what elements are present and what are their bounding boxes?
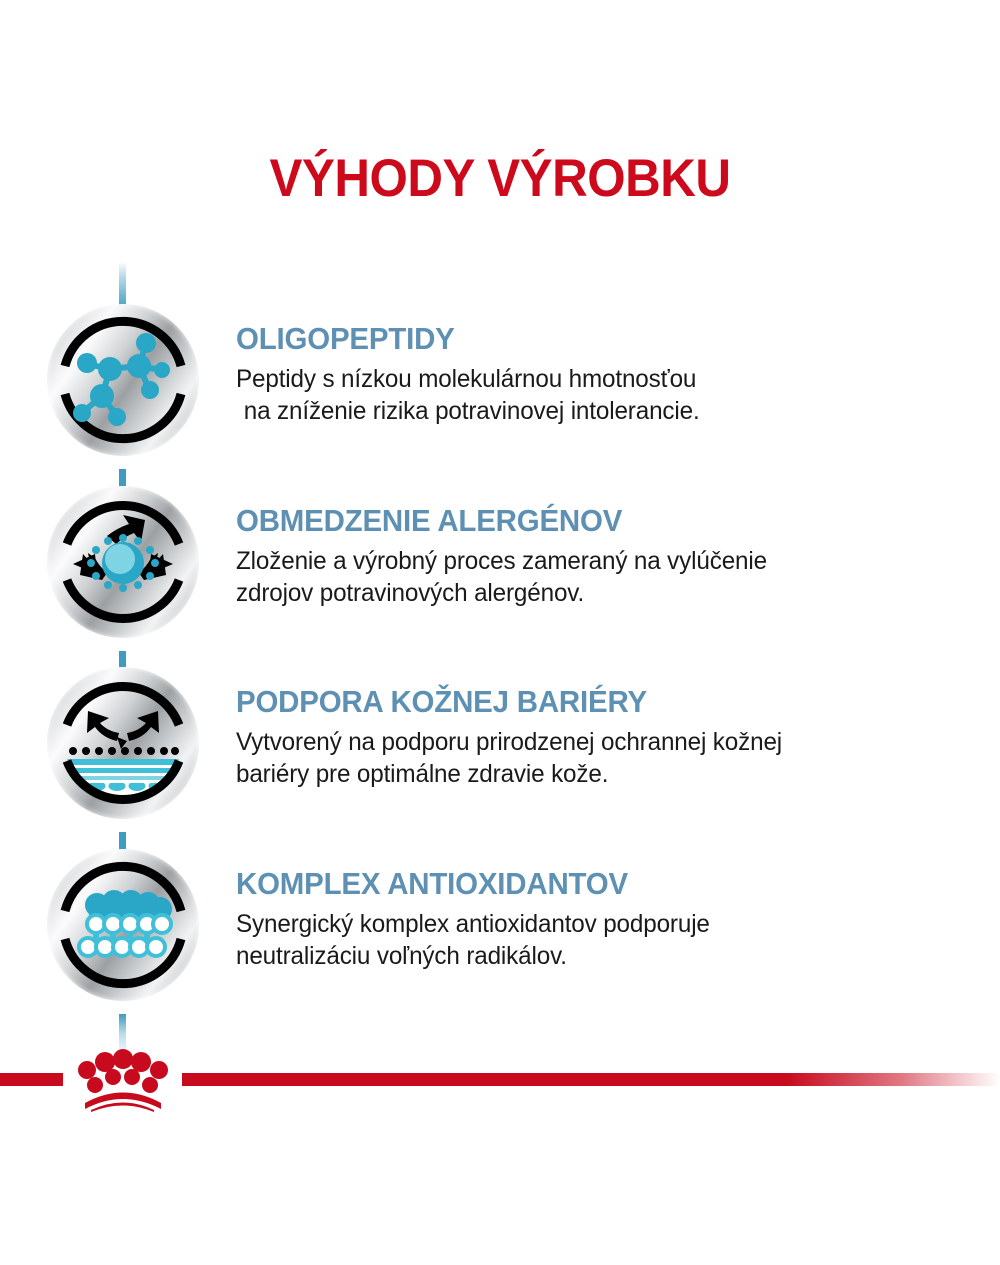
benefit-text-block: OLIGOPEPTIDY Peptidy s nízkou molekulárn… xyxy=(236,322,956,427)
benefit-text-block: OBMEDZENIE ALERGÉNOV Zloženie a výrobný … xyxy=(236,504,956,609)
footer-rule-left xyxy=(0,1073,63,1086)
benefit-text-block: PODPORA KOŽNEJ BARIÉRY Vytvorený na podp… xyxy=(236,685,956,790)
allergen-limitation-icon-graphic xyxy=(47,486,199,638)
benefit-description-line1: Synergický komplex antioxidantov podporu… xyxy=(236,910,710,938)
skin-barrier-icon xyxy=(47,667,199,819)
benefit-item-oligopeptidy: OLIGOPEPTIDY Peptidy s nízkou molekulárn… xyxy=(0,304,1000,464)
benefit-item-komplex-antioxidantov: KOMPLEX ANTIOXIDANTOV Synergický komplex… xyxy=(0,849,1000,1009)
benefit-description: Peptidy s nízkou molekulárnou hmotnosťou… xyxy=(236,363,934,427)
benefit-description-line1: Peptidy s nízkou molekulárnou hmotnosťou xyxy=(236,365,696,393)
allergen-limitation-icon xyxy=(47,486,199,638)
benefit-heading: PODPORA KOŽNEJ BARIÉRY xyxy=(236,685,920,719)
benefit-description-line2: na zníženie rizika potravinovej intolera… xyxy=(236,395,934,427)
benefit-description-line2: zdrojov potravinových alergénov. xyxy=(236,577,934,609)
antioxidant-complex-icon-graphic xyxy=(47,849,199,1001)
benefit-description-line2: neutralizáciu voľných radikálov. xyxy=(236,940,934,972)
benefit-description: Vytvorený na podporu prirodzenej ochrann… xyxy=(236,726,934,790)
footer-rule-right xyxy=(182,1073,1000,1086)
connector-rail-top xyxy=(119,262,126,310)
benefit-item-podpora-koznej-bariery: PODPORA KOŽNEJ BARIÉRY Vytvorený na podp… xyxy=(0,667,1000,827)
molecule-peptide-icon-graphic xyxy=(47,304,199,456)
benefit-heading: OLIGOPEPTIDY xyxy=(236,322,920,356)
benefit-description: Synergický komplex antioxidantov podporu… xyxy=(236,908,934,972)
benefits-list: OLIGOPEPTIDY Peptidy s nízkou molekulárn… xyxy=(0,262,1000,1007)
benefit-description: Zloženie a výrobný proces zameraný na vy… xyxy=(236,545,934,609)
skin-barrier-icon-graphic xyxy=(47,667,199,819)
footer xyxy=(0,1060,1000,1100)
benefit-heading: KOMPLEX ANTIOXIDANTOV xyxy=(236,867,920,901)
royal-canin-crown-logo xyxy=(63,1038,182,1112)
benefit-description-line1: Zloženie a výrobný proces zameraný na vy… xyxy=(236,547,767,575)
benefit-item-obmedzenie-alergenov: OBMEDZENIE ALERGÉNOV Zloženie a výrobný … xyxy=(0,486,1000,646)
page-title: VÝHODY VÝROBKU xyxy=(35,148,965,209)
benefit-text-block: KOMPLEX ANTIOXIDANTOV Synergický komplex… xyxy=(236,867,956,972)
benefit-heading: OBMEDZENIE ALERGÉNOV xyxy=(236,504,920,538)
benefit-description-line2: bariéry pre optimálne zdravie kože. xyxy=(236,758,934,790)
antioxidant-complex-icon xyxy=(47,849,199,1001)
benefit-description-line1: Vytvorený na podporu prirodzenej ochrann… xyxy=(236,728,782,756)
molecule-peptide-icon xyxy=(47,304,199,456)
